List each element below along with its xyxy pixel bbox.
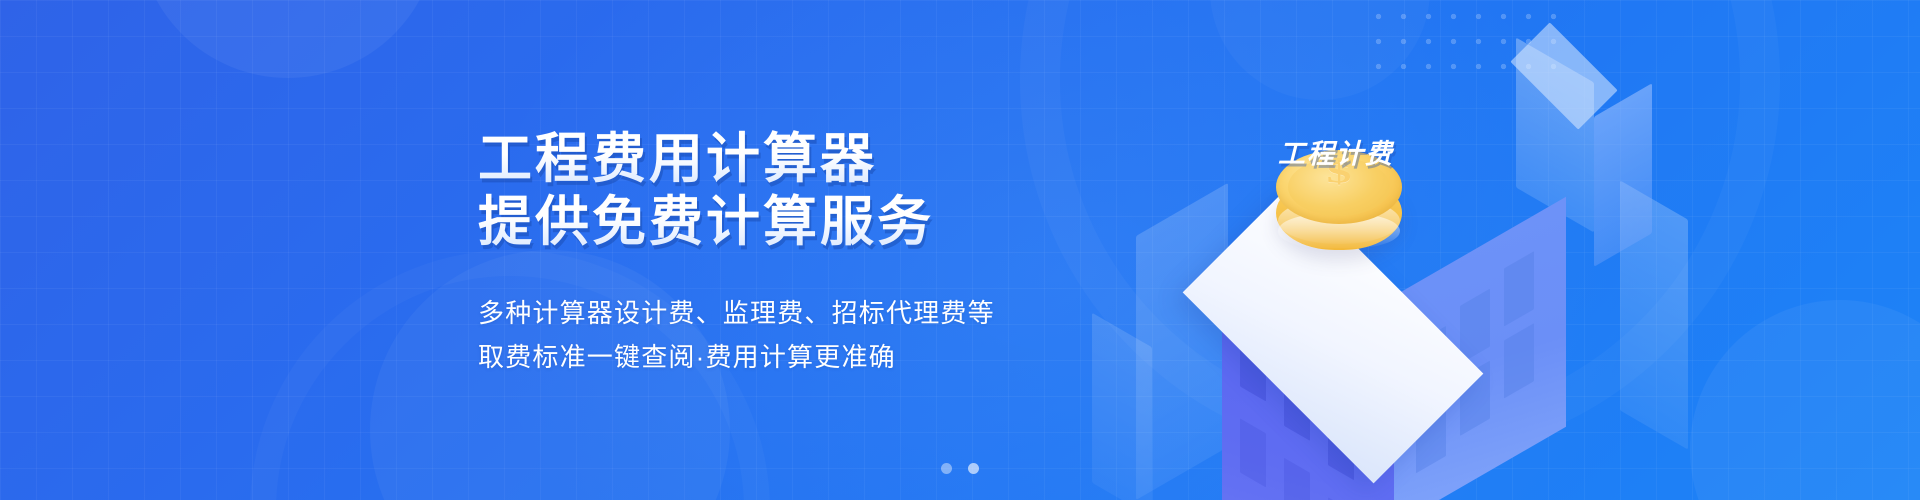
- banner-subcopy-line2: 取费标准一键查阅·费用计算更准确: [478, 336, 1118, 378]
- building-window: [1504, 251, 1534, 326]
- building-window: [1240, 418, 1266, 487]
- banner-illustration: $ 工程计费: [1080, 0, 1780, 500]
- banner-headline-line1: 工程费用计算器: [478, 128, 1118, 191]
- banner-subcopy-line1: 多种计算器设计费、监理费、招标代理费等: [478, 292, 1118, 334]
- illustration-label: 工程计费: [1278, 132, 1394, 171]
- decorative-bar-left: [1136, 183, 1228, 500]
- banner-copy-block: 工程费用计算器 提供免费计算服务 多种计算器设计费、监理费、招标代理费等 取费标…: [478, 128, 1118, 379]
- building-window: [1504, 323, 1534, 398]
- banner-headline-line2: 提供免费计算服务: [478, 191, 1118, 254]
- carousel-dot-1[interactable]: [941, 463, 952, 474]
- building-window: [1460, 289, 1490, 364]
- carousel-dot-2[interactable]: [968, 463, 979, 474]
- carousel-indicators[interactable]: [0, 463, 1920, 474]
- hero-banner: 工程费用计算器 提供免费计算服务 多种计算器设计费、监理费、招标代理费等 取费标…: [0, 0, 1920, 500]
- decorative-circle-top-left: [138, 0, 438, 78]
